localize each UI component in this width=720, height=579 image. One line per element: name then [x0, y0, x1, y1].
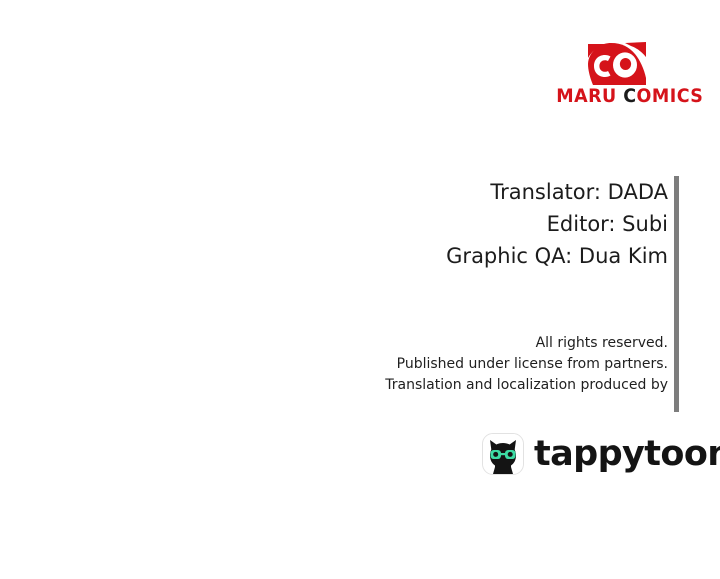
- publisher-logo: MARU COMICS: [551, 40, 683, 110]
- tappytoon-wordmark: tappytoon: [534, 431, 720, 477]
- vertical-gutter-bar: [674, 176, 679, 412]
- legal-block: All rights reserved. Published under lic…: [300, 333, 668, 396]
- legal-line-license: Published under license from partners.: [300, 354, 668, 375]
- publisher-wordmark: MARU COMICS: [556, 85, 677, 108]
- credits-page: MARU COMICS Translator: DADA Editor: Sub…: [0, 0, 720, 579]
- credit-line-editor: Editor: Subi: [300, 208, 668, 240]
- tappytoon-logo: tappytoon: [482, 431, 674, 477]
- credit-line-graphic-qa: Graphic QA: Dua Kim: [300, 240, 668, 272]
- owl-head-icon: [584, 40, 650, 87]
- credits-block: Translator: DADA Editor: Subi Graphic QA…: [300, 176, 668, 272]
- publisher-wordmark-part-1: MARU: [556, 85, 623, 107]
- legal-line-rights: All rights reserved.: [300, 333, 668, 354]
- credit-line-translator: Translator: DADA: [300, 176, 668, 208]
- cat-with-glasses-icon: [482, 433, 524, 475]
- publisher-wordmark-part-2: C: [623, 85, 636, 107]
- legal-line-produced-by: Translation and localization produced by: [300, 375, 668, 396]
- publisher-wordmark-part-3: OMICS: [637, 85, 704, 107]
